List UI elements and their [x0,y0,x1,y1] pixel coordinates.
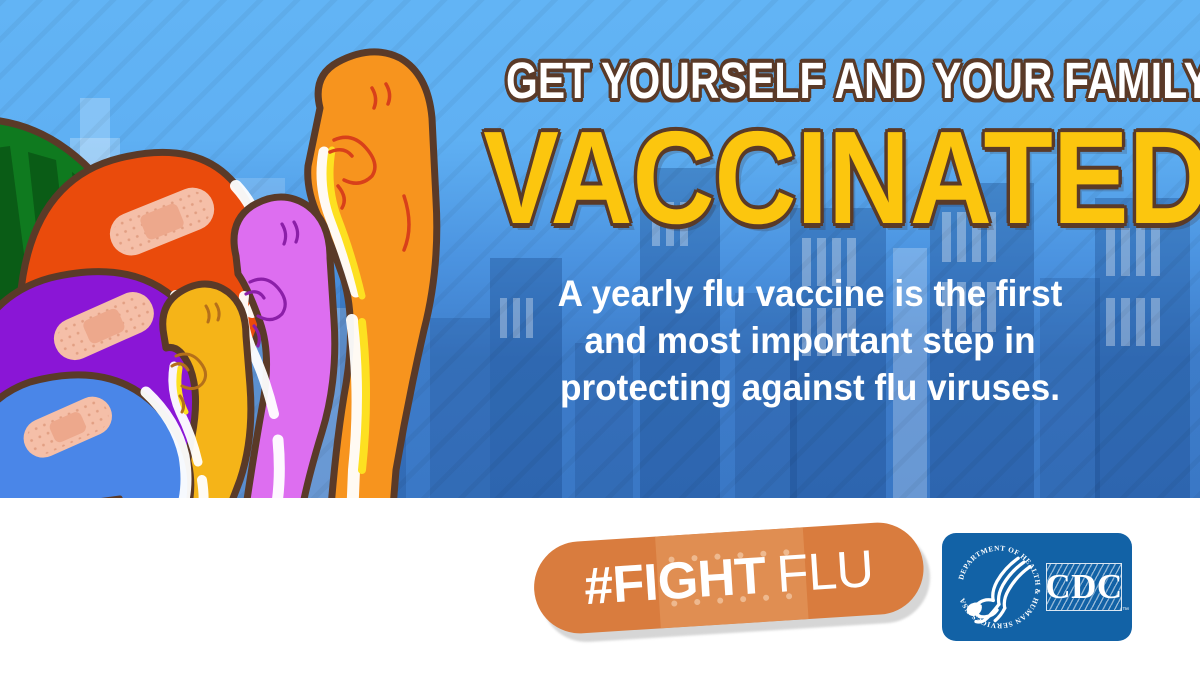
flu-vaccination-poster: GET YOURSELF AND YOUR FAMILY VACCINATED!… [0,0,1200,675]
headline-vaccinated: VACCINATED! [483,112,1137,244]
headline-kicker: GET YOURSELF AND YOUR FAMILY [506,54,1114,108]
badge-word-flu: FLU [775,539,875,605]
trademark-symbol: ™ [1122,607,1129,614]
body-copy: A yearly flu vaccine is the first and mo… [449,270,1171,411]
flexing-arms-illustration [0,0,460,520]
cdc-letters: CDC [1046,563,1122,611]
body-line-1: A yearly flu vaccine is the first [449,270,1171,317]
cdc-wordmark-box: CDC ™ [1046,563,1122,611]
badge-hashtag: #FIGHT [582,546,767,617]
headline-block: GET YOURSELF AND YOUR FAMILY VACCINATED!… [430,54,1190,411]
body-line-3: protecting against flu viruses. [449,364,1171,411]
hhs-seal-icon: DEPARTMENT OF HEALTH & HUMAN SERVICES·US… [951,539,1047,635]
body-line-2: and most important step in [449,317,1171,364]
cdc-logo[interactable]: DEPARTMENT OF HEALTH & HUMAN SERVICES·US… [942,533,1132,641]
